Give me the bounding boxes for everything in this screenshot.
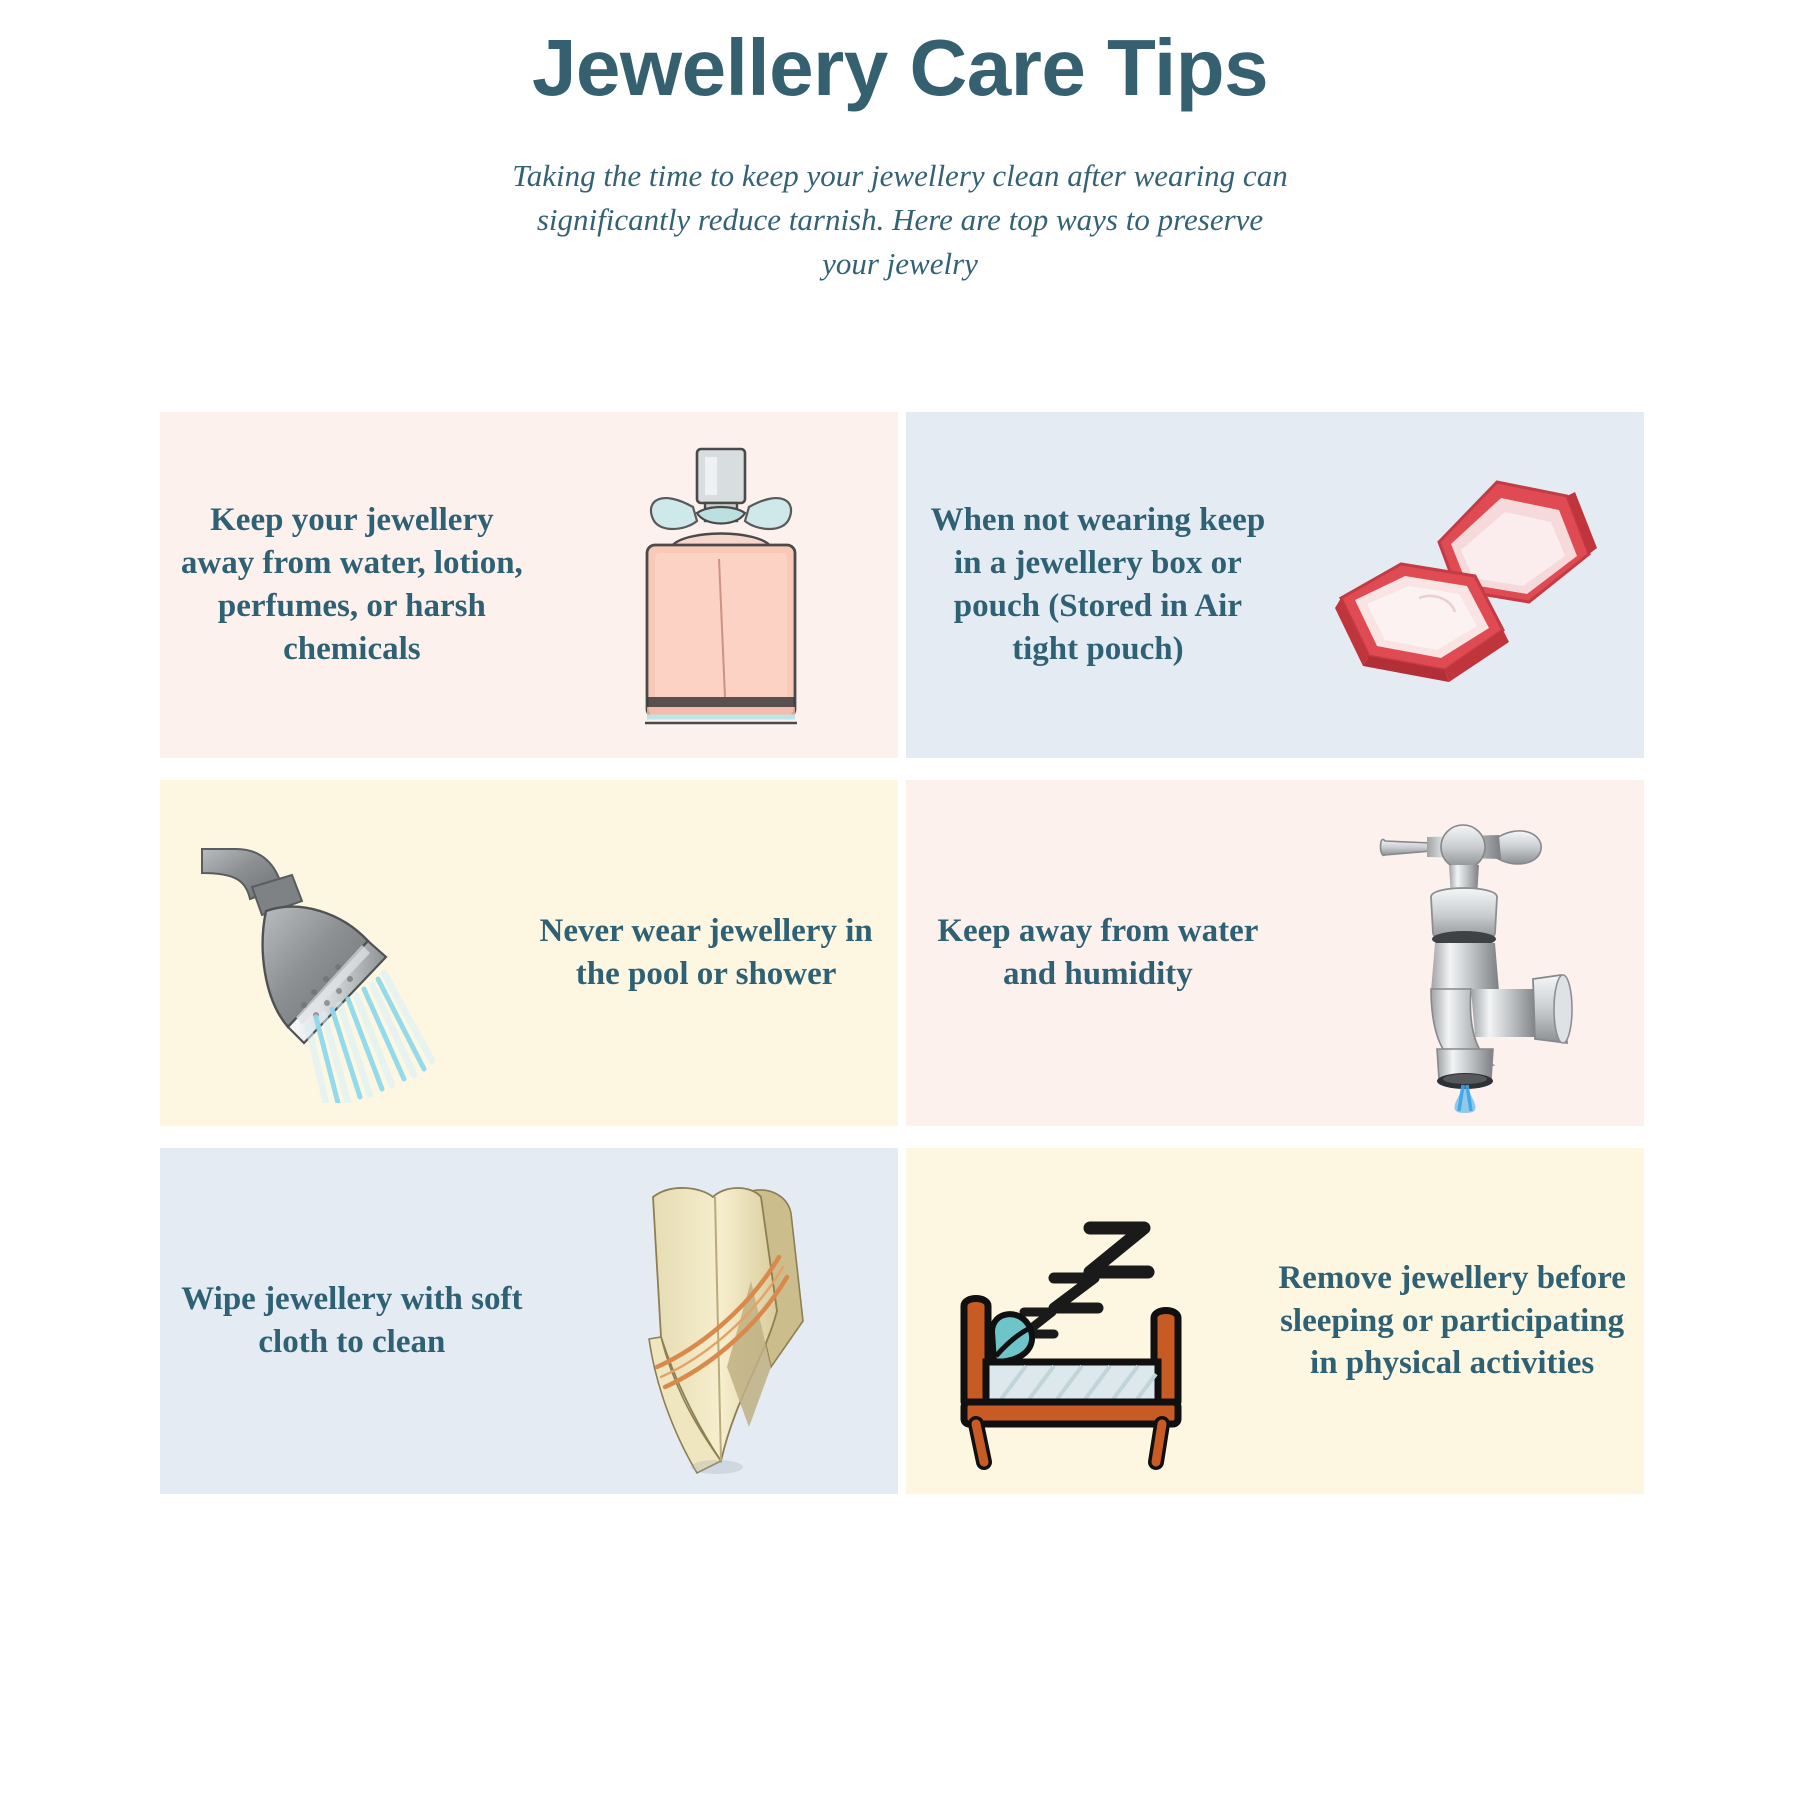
tip-card-2: When not wearing keep in a jewellery box…: [906, 412, 1644, 758]
page-title: Jewellery Care Tips: [0, 28, 1800, 108]
header: Jewellery Care Tips Taking the time to k…: [0, 0, 1800, 286]
ring-box-icon: [1290, 412, 1644, 758]
tip-card-1: Keep your jewellery away from water, lot…: [160, 412, 898, 758]
perfume-bottle-icon: [544, 412, 898, 758]
tip-card-1-label: Keep your jewellery away from water, lot…: [160, 499, 544, 671]
tip-card-5: Wipe jewellery with soft cloth to clean: [160, 1148, 898, 1494]
tip-card-6: Remove jewellery before sleeping or part…: [906, 1148, 1644, 1494]
cloth-icon: [544, 1148, 898, 1494]
infographic-page: Jewellery Care Tips Taking the time to k…: [0, 0, 1800, 1800]
shower-head-icon: [160, 780, 514, 1126]
tip-card-2-label: When not wearing keep in a jewellery box…: [906, 499, 1290, 671]
tip-card-4-label: Keep away from water and humidity: [906, 910, 1290, 996]
page-subtitle: Taking the time to keep your jewellery c…: [505, 154, 1295, 286]
faucet-icon: [1290, 780, 1644, 1126]
tips-grid: Keep your jewellery away from water, lot…: [160, 412, 1644, 1494]
tip-card-3-label: Never wear jewellery in the pool or show…: [514, 910, 898, 996]
tip-card-6-label: Remove jewellery before sleeping or part…: [1260, 1257, 1644, 1386]
tip-card-4: Keep away from water and humidity: [906, 780, 1644, 1126]
bed-sleep-icon: [906, 1148, 1260, 1494]
tip-card-3: Never wear jewellery in the pool or show…: [160, 780, 898, 1126]
tip-card-5-label: Wipe jewellery with soft cloth to clean: [160, 1278, 544, 1364]
